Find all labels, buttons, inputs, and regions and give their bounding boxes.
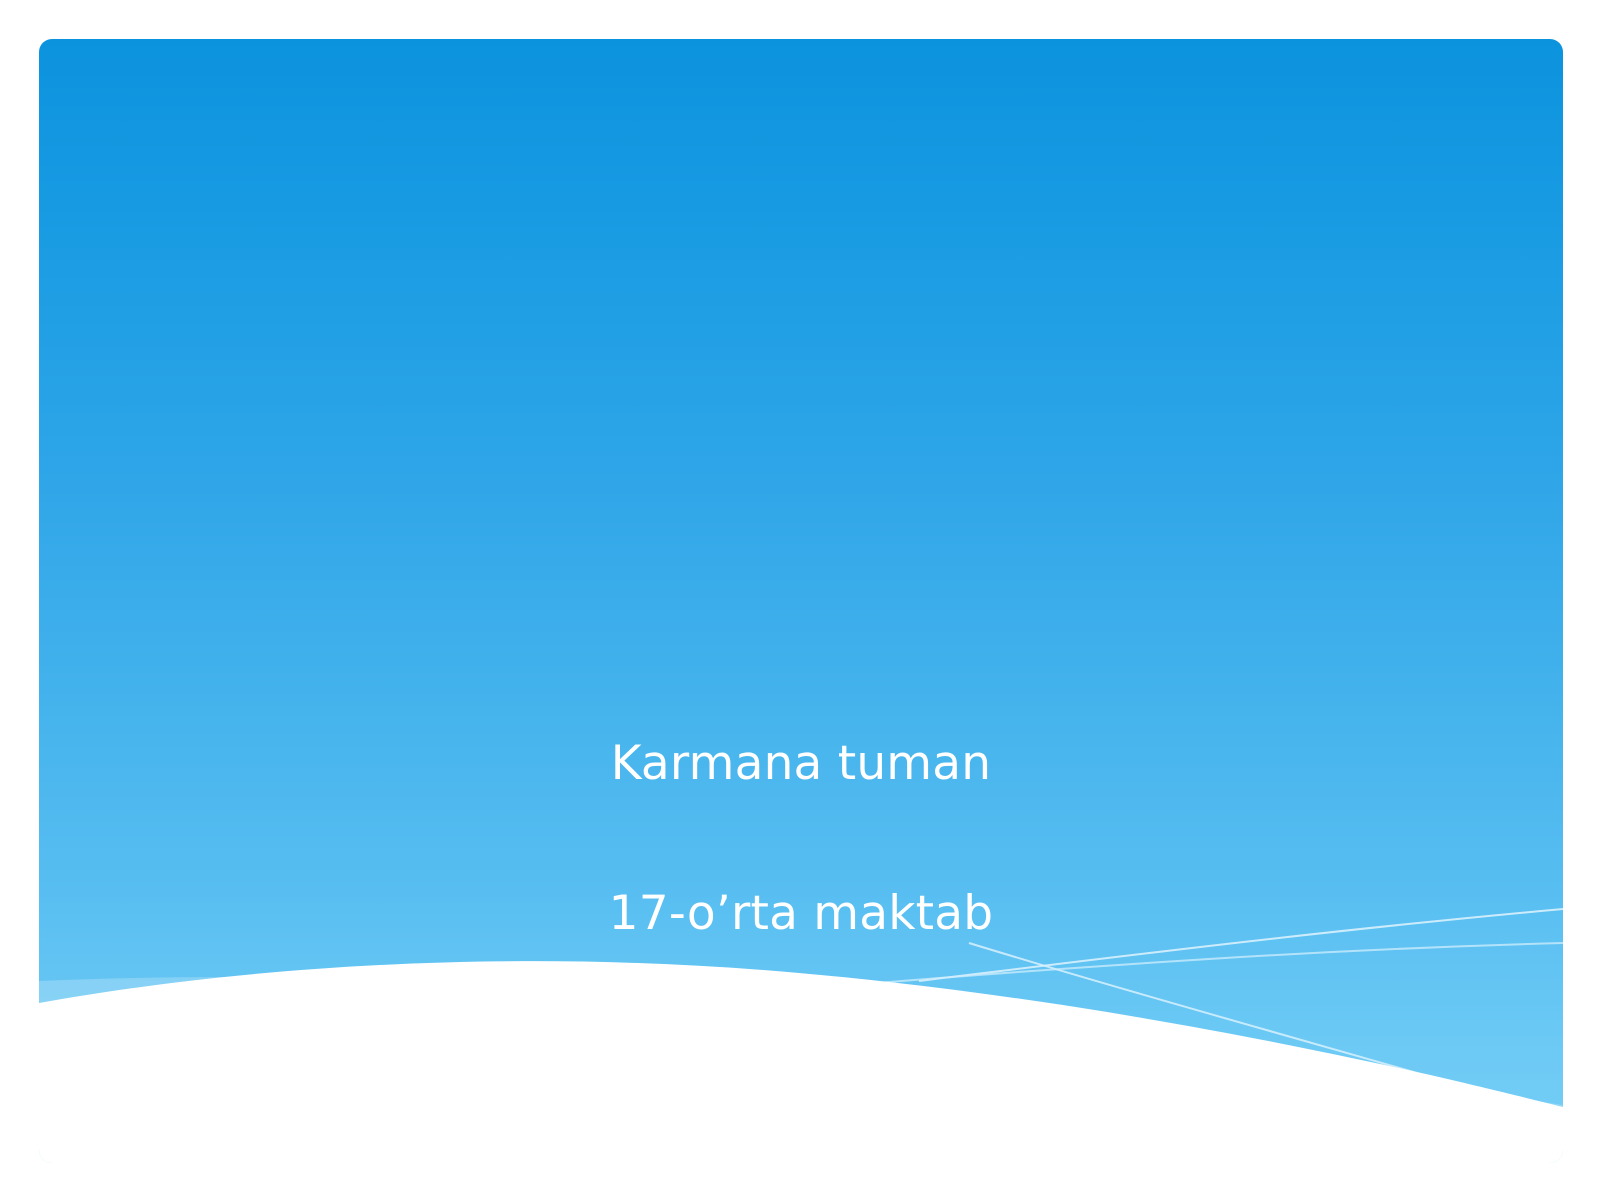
- slide-page: Karmana tuman 17-o’rta maktab ingliz til…: [0, 0, 1600, 1200]
- title-line-2: 17-o’rta maktab: [179, 889, 1423, 939]
- title-line-1: Karmana tuman: [179, 739, 1423, 789]
- title-line-3: ingliz tili fani o’qituvchisi esanova az…: [179, 1039, 1423, 1089]
- presentation-slide: Karmana tuman 17-o’rta maktab ingliz til…: [39, 39, 1563, 1163]
- slide-title-text: Karmana tuman 17-o’rta maktab ingliz til…: [179, 639, 1423, 1163]
